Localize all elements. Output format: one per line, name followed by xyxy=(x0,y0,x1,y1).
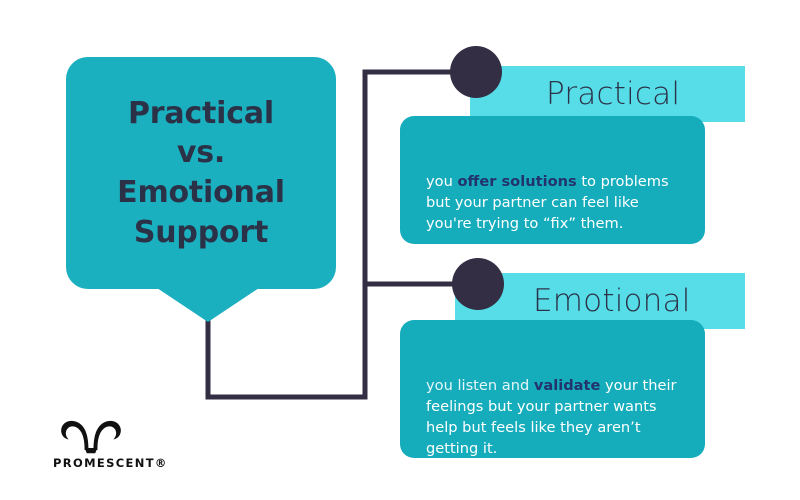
title-line-2: vs. xyxy=(177,135,225,170)
title-line-4: Support xyxy=(134,215,268,250)
practical-body-segment-1: you xyxy=(426,173,457,190)
main-speech-bubble: Practical vs. Emotional Support xyxy=(66,57,336,289)
branch-practical-label: Practical xyxy=(546,76,680,112)
page-title: Practical vs. Emotional Support xyxy=(103,94,299,252)
emotional-body-segment-1: you listen and xyxy=(426,377,534,394)
infographic-canvas: Practical vs. Emotional Support Practica… xyxy=(0,0,800,500)
branch-practical-node-dot xyxy=(450,46,502,98)
branch-emotional-label: Emotional xyxy=(533,283,691,319)
title-line-3: Emotional xyxy=(117,175,285,210)
logo-wordmark: PROMESCENT® xyxy=(53,456,168,470)
branch-emotional-card: you listen and validate your their feeli… xyxy=(400,320,705,458)
brand-logo: PROMESCENT® xyxy=(52,414,172,470)
practical-body-highlight: offer solutions xyxy=(457,173,576,190)
promescent-ram-mark xyxy=(52,414,130,454)
emotional-body-highlight: validate xyxy=(534,377,601,394)
speech-bubble-tail xyxy=(154,286,262,322)
branch-practical-body: you offer solutions to problems but your… xyxy=(426,171,687,234)
branch-emotional-node-dot xyxy=(452,258,504,310)
branch-practical-card: you offer solutions to problems but your… xyxy=(400,116,705,244)
branch-practical-banner: Practical xyxy=(470,66,745,122)
branch-emotional-body: you listen and validate your their feeli… xyxy=(426,375,687,460)
title-line-1: Practical xyxy=(128,96,274,131)
